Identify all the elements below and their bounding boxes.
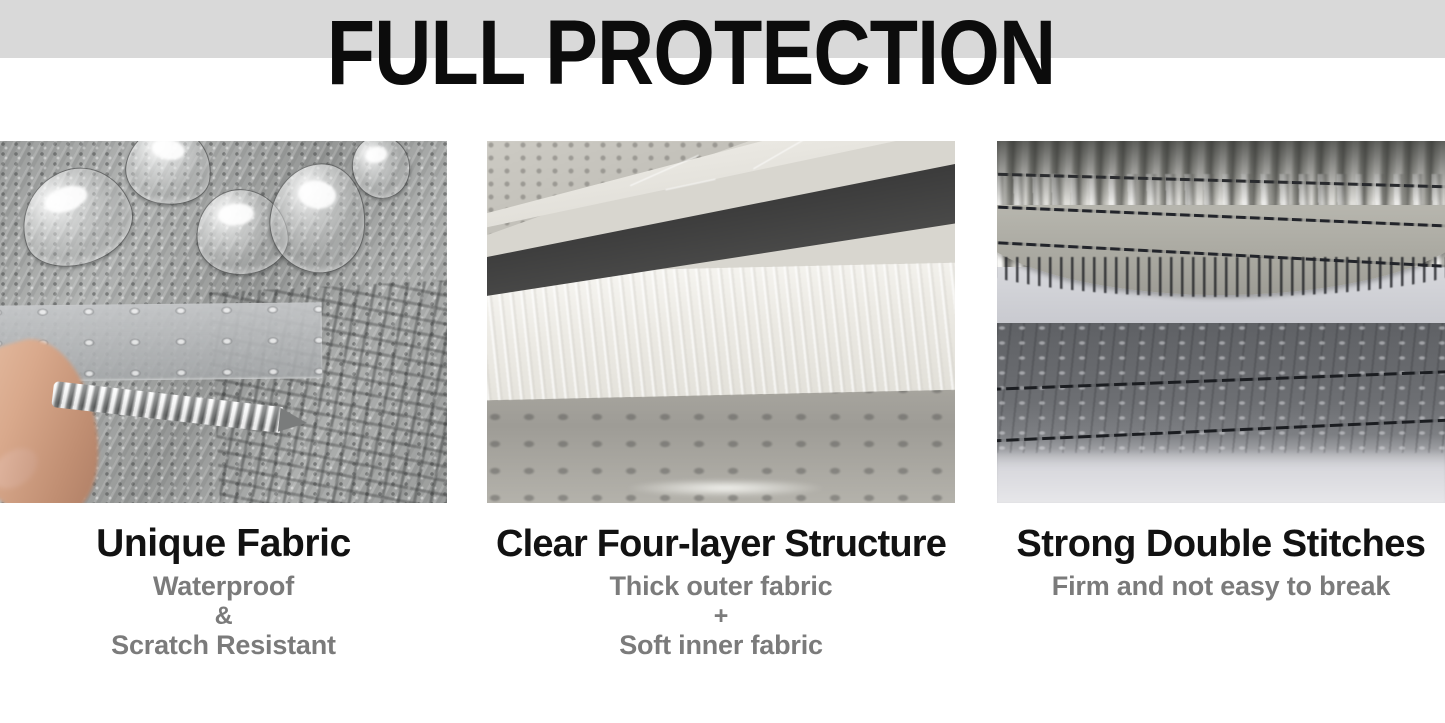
caption-subline: Waterproof xyxy=(0,572,447,601)
caption-heading: Clear Four-layer Structure xyxy=(487,520,955,568)
double-stitches-photo xyxy=(997,141,1445,503)
layer-inner-highlight xyxy=(627,479,824,497)
caption-heading: Strong Double Stitches xyxy=(997,520,1445,568)
caption-subline-connector: + xyxy=(487,601,955,631)
caption-column-four-layer-structure: Clear Four-layer Structure Thick outer f… xyxy=(487,520,955,660)
droplet-highlight xyxy=(150,141,187,162)
caption-column-unique-fabric: Unique Fabric Waterproof & Scratch Resis… xyxy=(0,520,447,660)
unique-fabric-photo xyxy=(0,141,447,503)
seam-background-surface xyxy=(997,449,1445,503)
screw-tip xyxy=(278,408,309,435)
double-stitch-seam-photo xyxy=(997,323,1445,503)
caption-column-double-stitches: Strong Double Stitches Firm and not easy… xyxy=(997,520,1445,601)
panel-row xyxy=(0,141,1445,503)
page-title: FULL PROTECTION xyxy=(97,6,1286,100)
caption-subline-connector: & xyxy=(0,601,447,631)
caption-subline: Soft inner fabric xyxy=(487,631,955,660)
droplet-highlight xyxy=(41,181,90,218)
droplet-highlight xyxy=(363,145,388,165)
caption-subline: Thick outer fabric xyxy=(487,572,955,601)
caption-row: Unique Fabric Waterproof & Scratch Resis… xyxy=(0,520,1445,723)
caption-subline: Scratch Resistant xyxy=(0,631,447,660)
infographic-page: FULL PROTECTION xyxy=(0,0,1445,723)
hem-top-shadow xyxy=(997,141,1445,207)
droplet-highlight xyxy=(297,178,338,211)
droplet-highlight xyxy=(218,202,256,227)
caption-subline: Firm and not easy to break xyxy=(997,572,1445,601)
fingernail xyxy=(0,440,45,497)
four-layer-structure-photo xyxy=(487,141,955,503)
caption-heading: Unique Fabric xyxy=(0,520,447,568)
elastic-hem-photo xyxy=(997,141,1445,323)
